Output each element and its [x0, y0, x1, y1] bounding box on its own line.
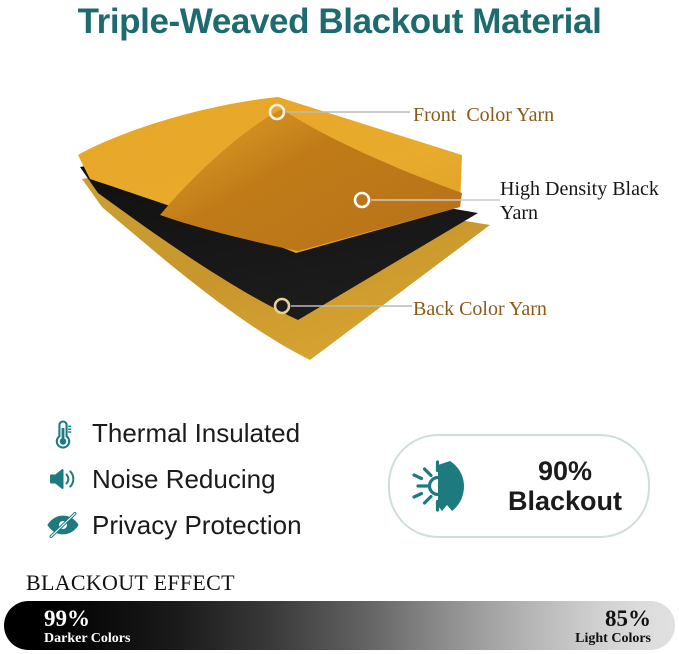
effect-right-sublabel: Light Colors [575, 631, 651, 647]
callout-label-high-density-black-yarn: High Density Black Yarn [500, 178, 660, 225]
blackout-effect-gradient-bar: 99% Darker Colors 85% Light Colors [4, 601, 675, 650]
effect-darker-colors: 99% Darker Colors [44, 607, 130, 647]
effect-right-percent: 85% [575, 607, 651, 631]
feature-item-privacy-protection: Privacy Protection [46, 502, 376, 548]
feature-list: Thermal Insulated Noise Reducing Privacy… [46, 410, 376, 548]
sun-behind-curtain-icon [404, 449, 490, 523]
feature-item-noise-reducing: Noise Reducing [46, 456, 376, 502]
blackout-effect-title: BLACKOUT EFFECT [26, 570, 235, 596]
feature-label: Privacy Protection [92, 510, 302, 541]
thermometer-icon [46, 416, 80, 450]
badge-percent: 90% [490, 456, 640, 486]
feature-label: Thermal Insulated [92, 418, 300, 449]
blackout-badge: 90% Blackout [388, 434, 650, 538]
badge-text: 90% Blackout [490, 456, 648, 516]
effect-light-colors: 85% Light Colors [575, 607, 651, 647]
eye-slash-icon [46, 508, 80, 542]
speaker-sound-icon [46, 462, 80, 496]
callout-label-back-color-yarn: Back Color Yarn [413, 298, 547, 322]
page-title: Triple-Weaved Blackout Material [0, 2, 679, 42]
effect-left-percent: 99% [44, 607, 130, 631]
feature-item-thermal-insulated: Thermal Insulated [46, 410, 376, 456]
feature-label: Noise Reducing [92, 464, 276, 495]
callout-label-front-color-yarn: Front Color Yarn [413, 104, 554, 128]
effect-left-sublabel: Darker Colors [44, 631, 130, 647]
badge-word: Blackout [490, 486, 640, 516]
